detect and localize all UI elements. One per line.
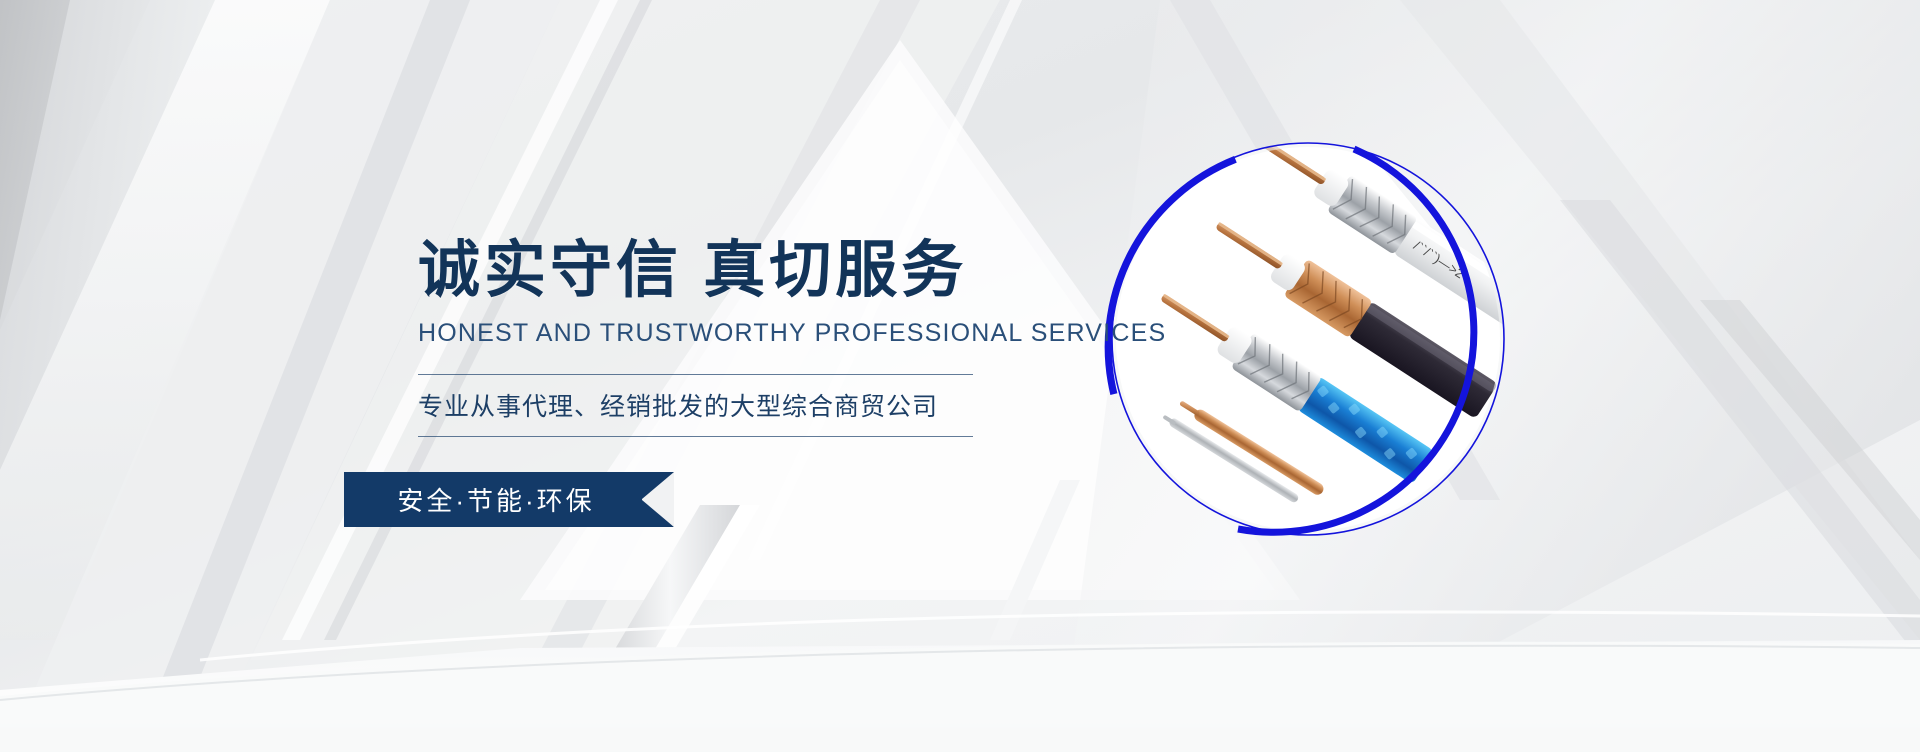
ribbon-notch-icon	[645, 472, 675, 528]
company-description: 专业从事代理、经销批发的大型综合商贸公司	[418, 375, 973, 436]
page-subtitle-english: HONEST AND TRUSTWORTHY PROFESSIONAL SERV…	[418, 319, 1058, 348]
page-title: 诚实守信 真切服务	[418, 238, 1058, 305]
hero-text-column: 诚实守信 真切服务 HONEST AND TRUSTWORTHY PROFESS…	[418, 238, 1058, 527]
feature-ribbon: 安全·节能·环保	[344, 472, 674, 527]
coaxial-cable-illustration: /``/``)—>2	[1112, 143, 1504, 535]
divider-top	[418, 374, 973, 375]
product-medallion: /``/``)—>2	[1112, 143, 1504, 535]
hero-banner: /``/``)—>2	[0, 0, 1920, 752]
description-block: 专业从事代理、经销批发的大型综合商贸公司	[418, 374, 973, 437]
feature-ribbon-label: 安全·节能·环保	[397, 481, 620, 518]
medallion-photo: /``/``)—>2	[1112, 143, 1504, 535]
divider-bottom	[418, 436, 973, 437]
